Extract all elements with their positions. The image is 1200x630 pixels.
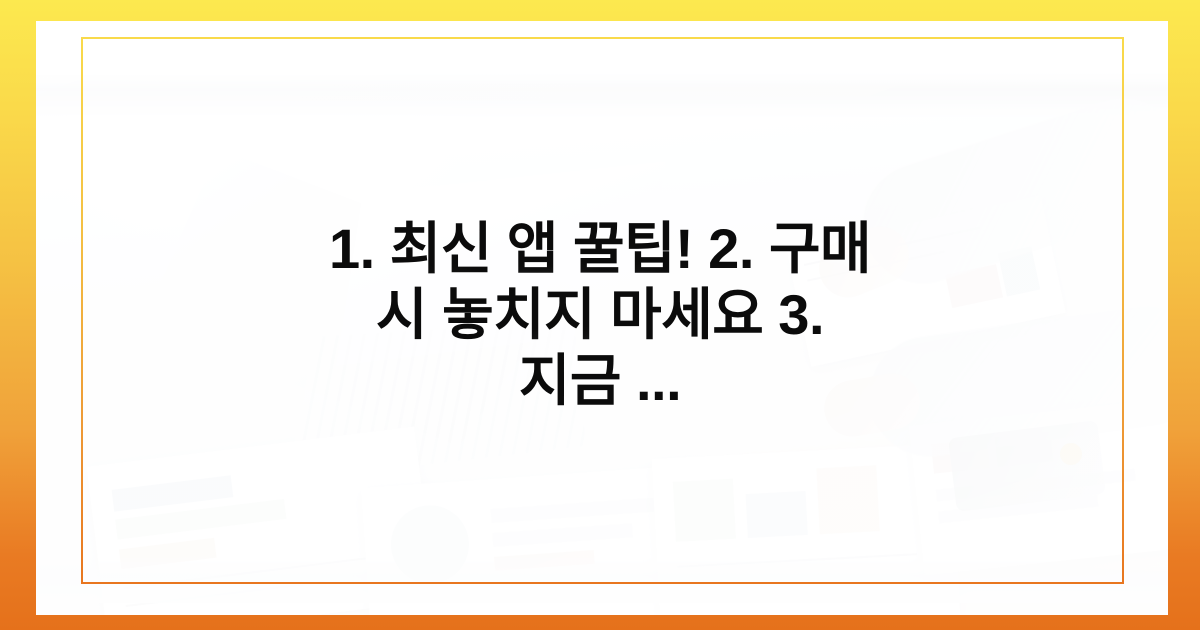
background-photo [36, 21, 1168, 615]
card-inner-plate [36, 21, 1168, 615]
photo-wall-band [36, 73, 1168, 117]
thumbnail-card: 1. 최신 앱 꿀팁! 2. 구매 시 놓치지 마세요 3. 지금 ... [0, 0, 1200, 630]
photo-desk-band [36, 557, 1168, 603]
